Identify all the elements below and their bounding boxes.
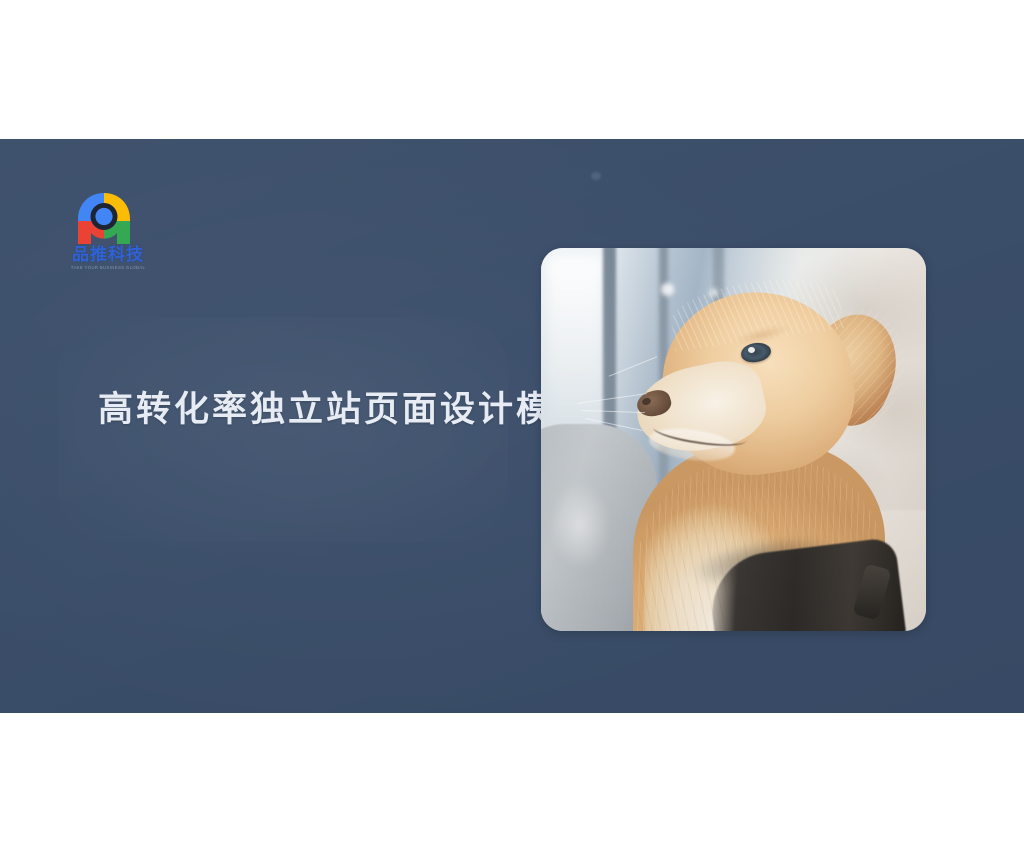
slide-headline: 高转化率独立站页面设计模板 xyxy=(98,381,592,432)
photo-bokeh-highlight xyxy=(661,283,674,296)
logo-wordmark: 品推科技 xyxy=(60,245,156,265)
photo-window-glow xyxy=(547,256,603,436)
dog-eye-highlight xyxy=(748,347,755,353)
logo-tagline: TAKE YOUR BUSINESS GLOBAL xyxy=(61,265,155,271)
photo-seat-highlight xyxy=(549,480,611,570)
screenshot-canvas: 品推科技 TAKE YOUR BUSINESS GLOBAL 高转化率独立站页面… xyxy=(0,0,1024,853)
background-speck-artifact xyxy=(591,172,601,180)
hero-photo-image xyxy=(541,248,926,631)
hero-photo-card xyxy=(541,248,926,631)
brand-logo: 品推科技 TAKE YOUR BUSINESS GLOBAL xyxy=(60,191,156,277)
presentation-slide: 品推科技 TAKE YOUR BUSINESS GLOBAL 高转化率独立站页面… xyxy=(0,139,1024,713)
pintui-logo-mark-icon xyxy=(70,191,138,246)
